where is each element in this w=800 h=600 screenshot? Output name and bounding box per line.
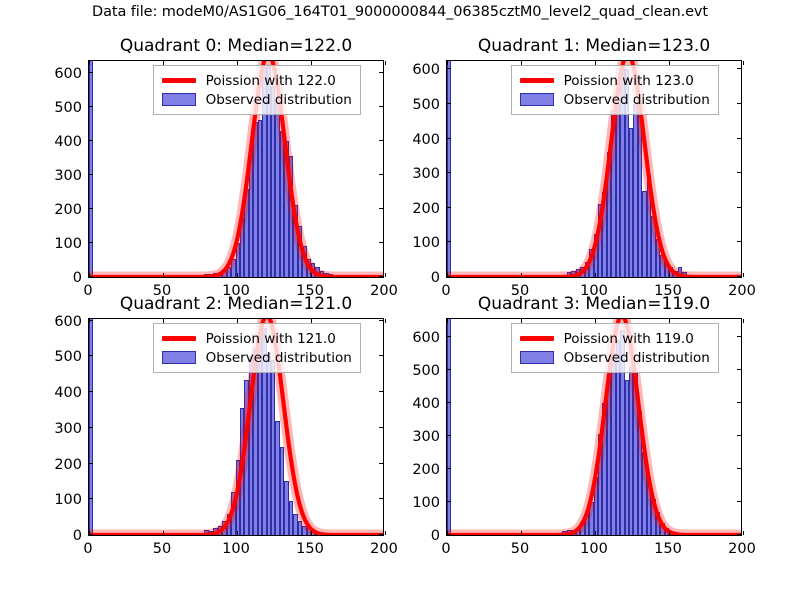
legend-row: Observed distribution (519, 90, 710, 109)
subplot-quadrant-2: Quadrant 2: Median=121.0Poission with 12… (18, 292, 394, 560)
y-tick-mark (737, 534, 741, 535)
y-tick-mark (89, 174, 93, 175)
x-tick-label: 150 (296, 541, 324, 557)
y-tick-label: 300 (386, 166, 440, 182)
legend-row: Poission with 123.0 (519, 71, 710, 90)
x-tick-mark (89, 319, 90, 323)
y-tick-mark (89, 355, 93, 356)
legend-line-swatch-icon (161, 74, 197, 88)
x-tick-mark (237, 273, 238, 277)
legend-row: Observed distribution (519, 348, 710, 367)
legend-patch-swatch-icon (161, 93, 197, 107)
y-tick-mark (447, 207, 451, 208)
x-tick-mark (447, 273, 448, 277)
legend-label: Poission with 119.0 (564, 331, 694, 347)
y-tick-mark (737, 501, 741, 502)
y-tick-mark (737, 138, 741, 139)
y-tick-mark (447, 468, 451, 469)
y-tick-mark (447, 501, 451, 502)
y-tick-mark (89, 427, 93, 428)
y-tick-mark (737, 468, 741, 469)
legend-quadrant-0: Poission with 122.0Observed distribution (153, 65, 361, 115)
x-tick-mark (311, 531, 312, 535)
x-tick-label: 100 (580, 541, 608, 557)
y-tick-mark (737, 241, 741, 242)
y-tick-mark (737, 68, 741, 69)
subplot-quadrant-3: Quadrant 3: Median=119.0Poission with 11… (376, 292, 752, 560)
y-tick-mark (737, 103, 741, 104)
y-tick-mark (447, 402, 451, 403)
y-tick-mark (89, 242, 93, 243)
x-tick-mark (595, 531, 596, 535)
x-tick-mark (521, 273, 522, 277)
y-tick-mark (737, 435, 741, 436)
y-tick-mark (447, 369, 451, 370)
y-tick-label: 0 (386, 528, 440, 544)
y-tick-mark (737, 172, 741, 173)
x-tick-mark (237, 531, 238, 535)
y-tick-label: 500 (386, 363, 440, 379)
y-tick-mark (447, 435, 451, 436)
plot-area-quadrant-0: Poission with 122.0Observed distribution (88, 60, 384, 278)
y-tick-mark (737, 336, 741, 337)
x-tick-mark (447, 61, 448, 65)
y-tick-label: 600 (386, 330, 440, 346)
y-tick-label: 0 (28, 270, 82, 286)
y-tick-mark (737, 402, 741, 403)
legend-row: Observed distribution (161, 90, 352, 109)
y-tick-mark (89, 106, 93, 107)
y-tick-mark (447, 172, 451, 173)
x-tick-label: 0 (441, 541, 450, 557)
y-tick-mark (89, 498, 93, 499)
y-tick-mark (447, 68, 451, 69)
y-tick-label: 300 (28, 421, 82, 437)
legend-line-swatch-icon (161, 332, 197, 346)
legend-row: Poission with 122.0 (161, 71, 352, 90)
plot-area-quadrant-3: Poission with 119.0Observed distribution (446, 318, 742, 536)
y-tick-mark (737, 276, 741, 277)
y-tick-mark (447, 103, 451, 104)
y-tick-mark (89, 140, 93, 141)
legend-label: Poission with 121.0 (206, 331, 336, 347)
y-tick-mark (447, 138, 451, 139)
y-tick-label: 100 (386, 235, 440, 251)
legend-quadrant-1: Poission with 123.0Observed distribution (511, 65, 719, 115)
legend-label: Observed distribution (206, 92, 352, 108)
y-tick-label: 100 (386, 495, 440, 511)
x-tick-mark (669, 531, 670, 535)
x-tick-mark (163, 273, 164, 277)
x-tick-mark (311, 273, 312, 277)
x-tick-mark (743, 61, 744, 65)
y-tick-label: 500 (28, 349, 82, 365)
figure-canvas: Data file: modeM0/AS1G06_164T01_90000008… (0, 0, 800, 600)
x-tick-label: 50 (153, 541, 171, 557)
y-tick-label: 0 (386, 270, 440, 286)
y-tick-label: 300 (386, 429, 440, 445)
y-tick-label: 100 (28, 236, 82, 252)
y-tick-mark (89, 72, 93, 73)
legend-line-swatch-icon (519, 332, 555, 346)
y-tick-label: 200 (386, 201, 440, 217)
x-tick-mark (595, 273, 596, 277)
subplot-quadrant-1: Quadrant 1: Median=123.0Poission with 12… (376, 34, 752, 302)
legend-row: Poission with 119.0 (519, 329, 710, 348)
legend-row: Observed distribution (161, 348, 352, 367)
x-tick-mark (447, 531, 448, 535)
y-tick-label: 300 (28, 168, 82, 184)
legend-line-swatch-icon (519, 74, 555, 88)
y-tick-label: 400 (386, 396, 440, 412)
legend-label: Observed distribution (206, 350, 352, 366)
y-tick-label: 200 (28, 202, 82, 218)
x-tick-mark (669, 273, 670, 277)
x-tick-label: 200 (728, 541, 756, 557)
subplot-title-quadrant-2: Quadrant 2: Median=121.0 (88, 294, 384, 314)
x-tick-mark (743, 531, 744, 535)
legend-label: Poission with 122.0 (206, 73, 336, 89)
subplot-title-quadrant-0: Quadrant 0: Median=122.0 (88, 36, 384, 56)
y-tick-mark (447, 241, 451, 242)
subplot-title-quadrant-3: Quadrant 3: Median=119.0 (446, 294, 742, 314)
y-tick-label: 400 (386, 132, 440, 148)
legend-quadrant-2: Poission with 121.0Observed distribution (153, 323, 361, 373)
y-tick-mark (89, 208, 93, 209)
y-tick-label: 600 (386, 62, 440, 78)
y-tick-label: 500 (28, 100, 82, 116)
y-tick-mark (447, 336, 451, 337)
y-tick-label: 600 (28, 314, 82, 330)
x-tick-mark (743, 319, 744, 323)
x-tick-label: 0 (83, 541, 92, 557)
y-tick-label: 0 (28, 528, 82, 544)
legend-label: Observed distribution (564, 92, 710, 108)
y-tick-label: 500 (386, 97, 440, 113)
y-tick-label: 600 (28, 66, 82, 82)
legend-patch-swatch-icon (519, 93, 555, 107)
x-tick-mark (743, 273, 744, 277)
x-tick-label: 100 (222, 541, 250, 557)
plot-area-quadrant-1: Poission with 123.0Observed distribution (446, 60, 742, 278)
legend-quadrant-3: Poission with 119.0Observed distribution (511, 323, 719, 373)
x-tick-mark (89, 531, 90, 535)
legend-patch-swatch-icon (161, 351, 197, 365)
x-tick-mark (89, 61, 90, 65)
x-tick-mark (521, 531, 522, 535)
y-tick-label: 200 (386, 462, 440, 478)
legend-row: Poission with 121.0 (161, 329, 352, 348)
x-tick-mark (163, 531, 164, 535)
y-tick-label: 200 (28, 457, 82, 473)
y-tick-mark (737, 207, 741, 208)
subplot-quadrant-0: Quadrant 0: Median=122.0Poission with 12… (18, 34, 394, 302)
y-tick-mark (89, 391, 93, 392)
legend-label: Poission with 123.0 (564, 73, 694, 89)
y-tick-mark (89, 463, 93, 464)
x-tick-mark (447, 319, 448, 323)
y-tick-label: 100 (28, 492, 82, 508)
x-tick-label: 50 (511, 541, 529, 557)
y-tick-mark (737, 369, 741, 370)
x-tick-label: 150 (654, 541, 682, 557)
subplot-title-quadrant-1: Quadrant 1: Median=123.0 (446, 36, 742, 56)
legend-patch-swatch-icon (519, 351, 555, 365)
x-tick-mark (89, 273, 90, 277)
plot-area-quadrant-2: Poission with 121.0Observed distribution (88, 318, 384, 536)
legend-label: Observed distribution (564, 350, 710, 366)
y-tick-label: 400 (28, 134, 82, 150)
figure-suptitle: Data file: modeM0/AS1G06_164T01_90000008… (0, 4, 800, 20)
y-tick-label: 400 (28, 385, 82, 401)
